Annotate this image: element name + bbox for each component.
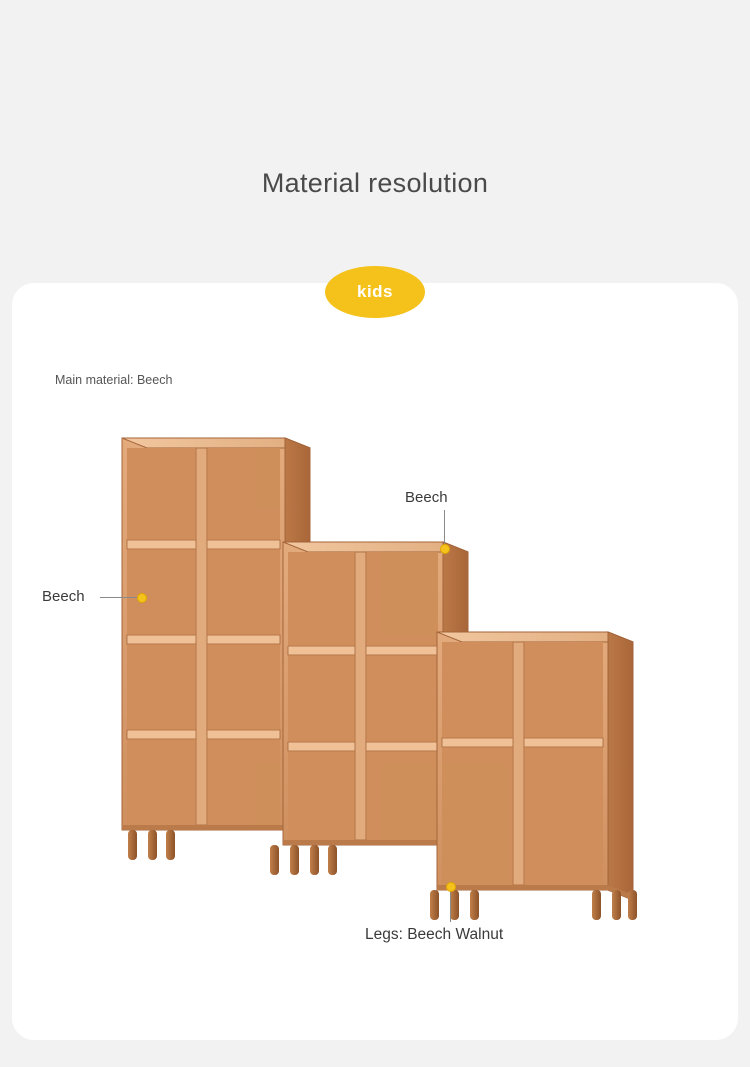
leader-line-bottom xyxy=(450,890,451,922)
bookshelf-illustration xyxy=(0,400,750,940)
annotation-label-legs: Legs: Beech Walnut xyxy=(365,926,503,944)
leader-line-left xyxy=(100,597,138,598)
annotation-label-left-beech: Beech xyxy=(42,588,85,605)
annotation-label-top-beech: Beech xyxy=(405,489,448,506)
shelf-unit-short xyxy=(430,632,637,920)
leader-line-top xyxy=(444,510,445,544)
page-root: Material resolution kids Main material: … xyxy=(0,0,750,1067)
marker-dot-left xyxy=(137,593,147,603)
main-material-label: Main material: Beech xyxy=(55,373,172,387)
marker-dot-top xyxy=(440,544,450,554)
legs-medium-unit xyxy=(270,845,337,875)
kids-badge: kids xyxy=(325,266,425,318)
page-title: Material resolution xyxy=(0,168,750,199)
legs-short-unit xyxy=(430,890,637,920)
shelf-unit-tall xyxy=(122,438,310,860)
legs-tall-unit xyxy=(128,830,175,860)
marker-dot-legs xyxy=(446,882,456,892)
